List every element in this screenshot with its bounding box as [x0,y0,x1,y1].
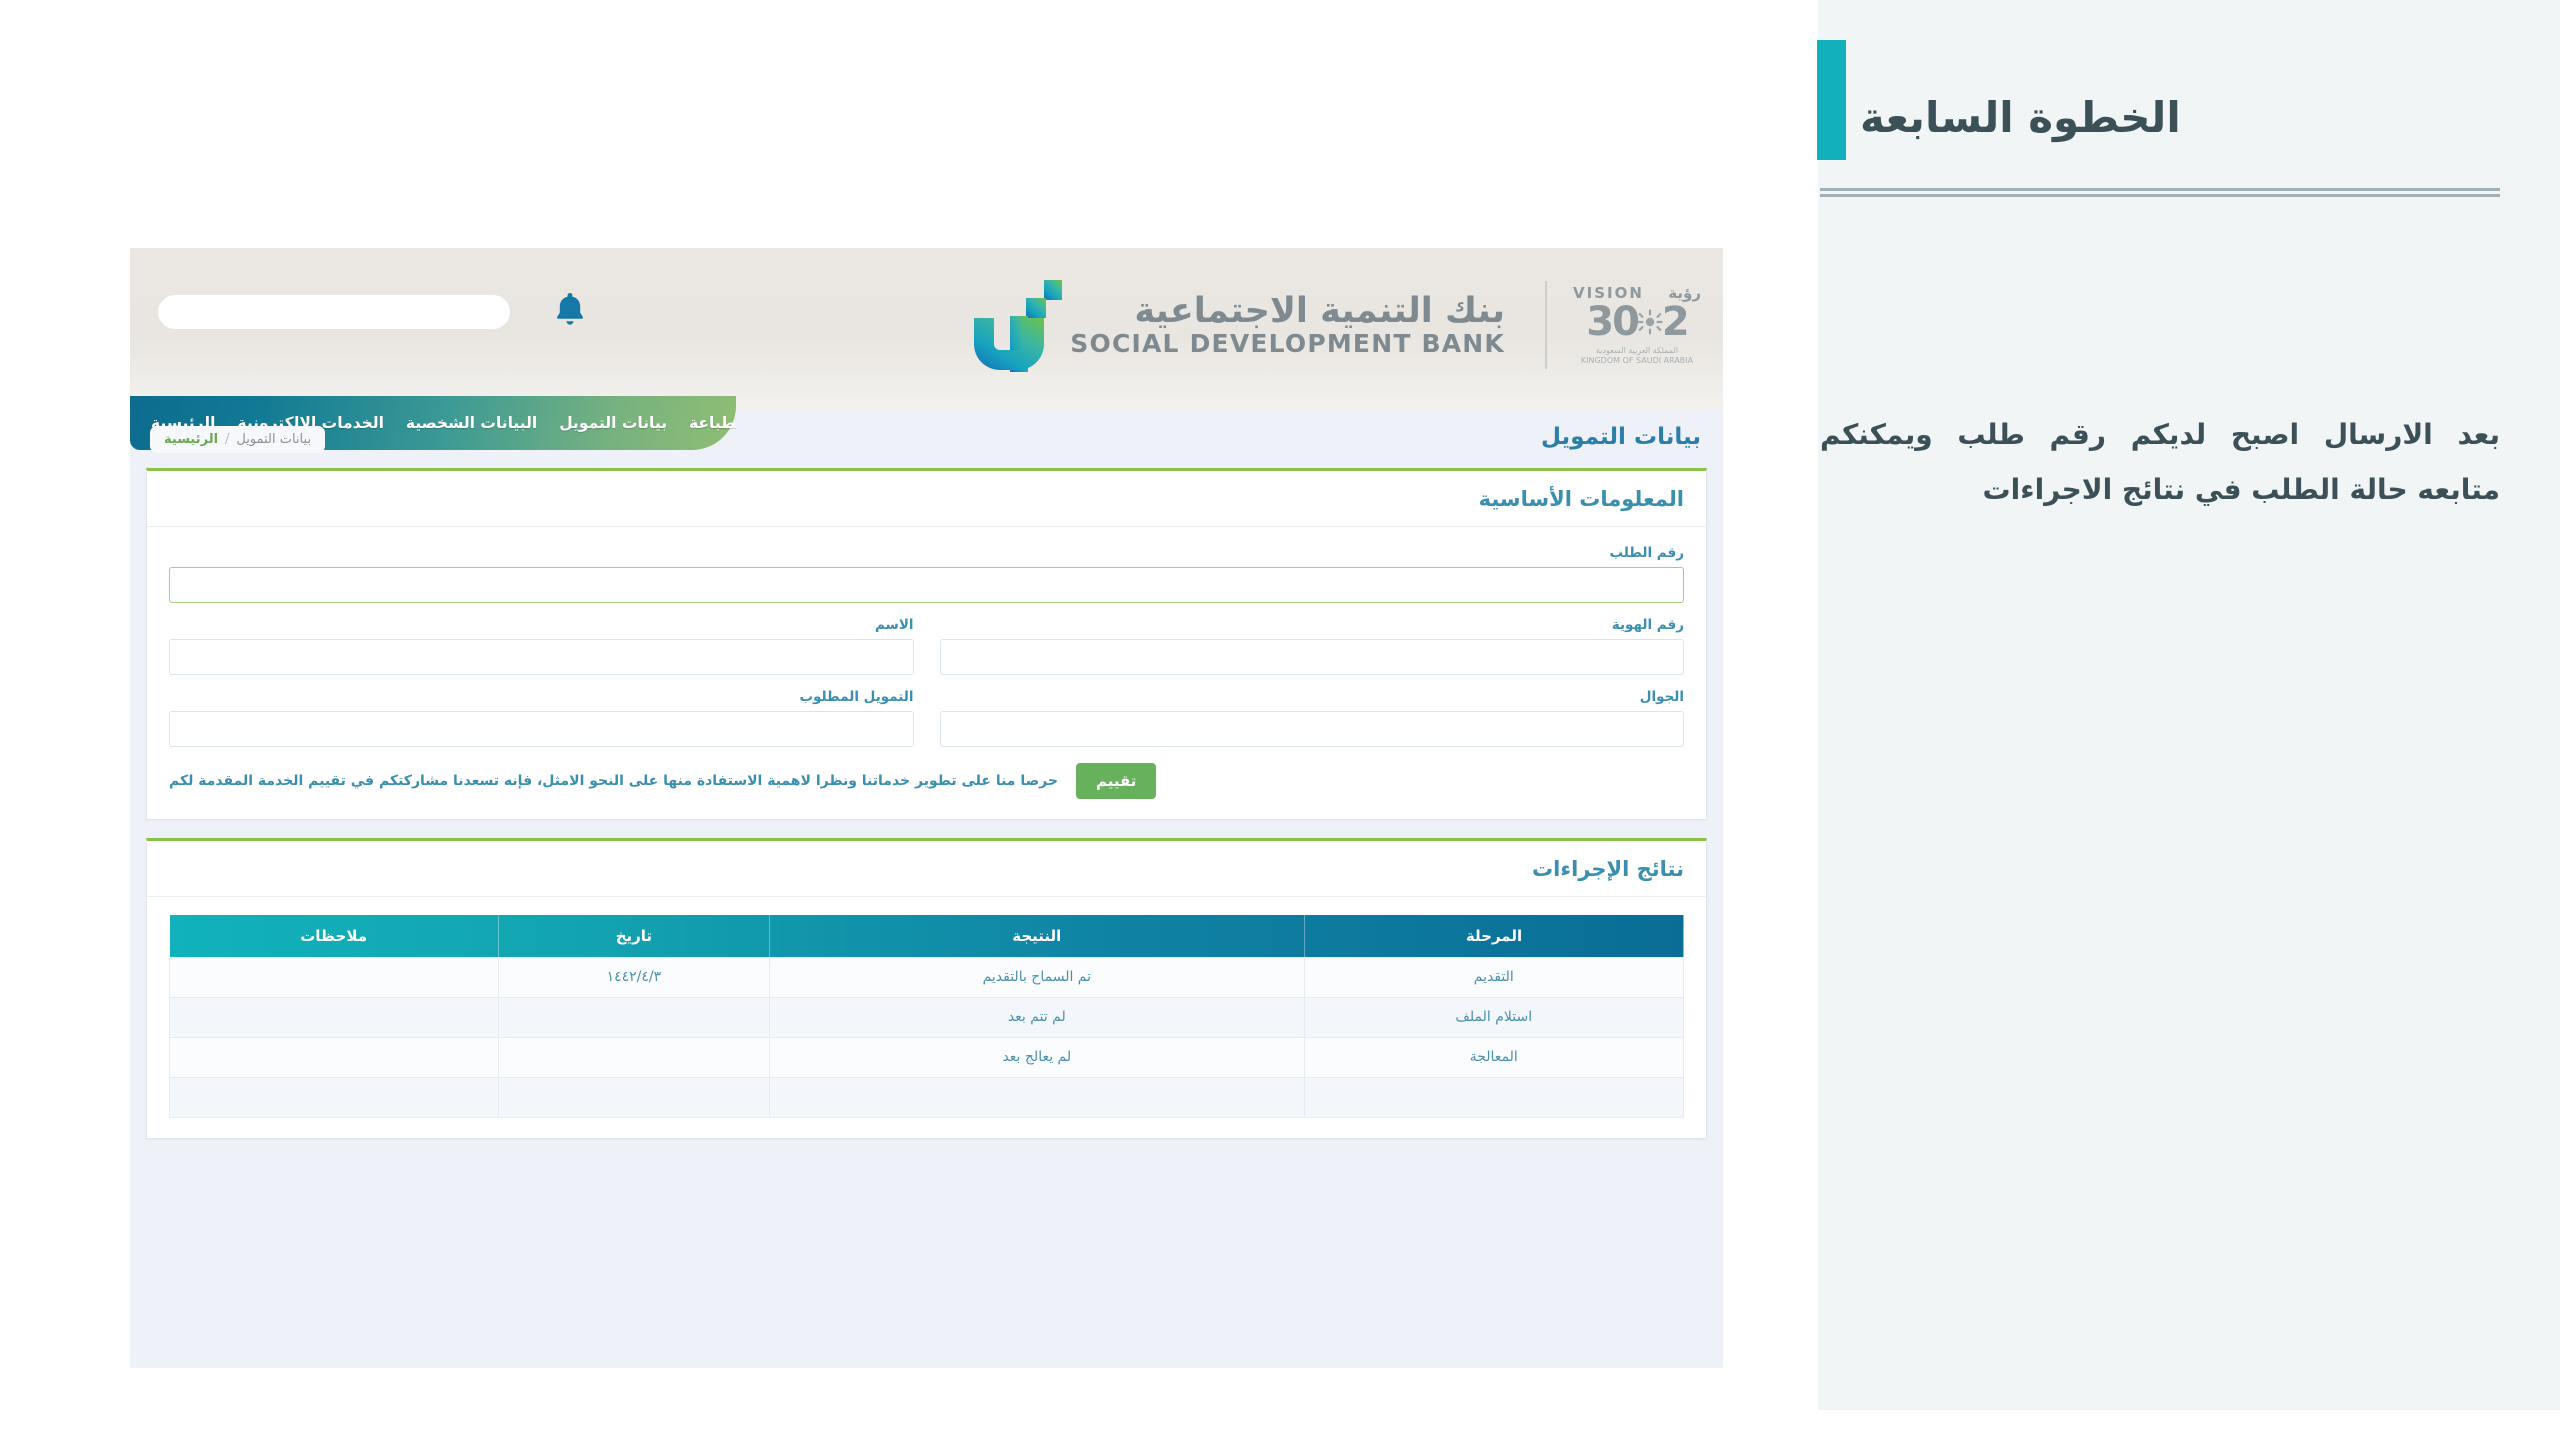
bell-icon[interactable] [550,288,590,332]
funding-requested-input[interactable] [169,711,914,747]
cell-result: لم يعالج بعد [770,1037,1305,1077]
basic-info-card: المعلومات الأساسية رقم الطلب رقم الهوية [146,468,1707,820]
cell-notes [170,957,499,997]
request-no-input[interactable] [169,567,1684,603]
col-date: تاريخ [498,915,769,957]
cell-result [770,1077,1305,1117]
user-name-field[interactable] [158,295,510,329]
app-header: VISION رؤية 2 [130,248,1723,410]
results-card: نتائج الإجراءات المرحلة النتيجة تاريخ مل… [146,838,1707,1139]
form-row-request-no: رقم الطلب [169,545,1684,603]
form-row-funding-mobile: الجوال التمويل المطلوب [169,689,1684,747]
cell-notes [170,997,499,1037]
bank-logo: VISION رؤية 2 [972,278,1701,372]
slide-canvas: الخطوة السابعة بعد الارسال اصبح لديكم رق… [0,0,2560,1440]
breadcrumb-separator: / [225,432,229,447]
accent-bar [1817,40,1846,160]
col-notes: ملاحظات [170,915,499,957]
label-id-no: رقم الهوية [940,617,1685,633]
basic-info-card-body: رقم الطلب رقم الهوية الاسم [147,527,1706,819]
cell-stage [1304,1077,1683,1117]
cell-result: لم تتم بعد [770,997,1305,1037]
results-card-header: نتائج الإجراءات [147,841,1706,897]
field-funding-requested: التمويل المطلوب [169,689,914,747]
label-mobile: الجوال [940,689,1685,705]
table-row [170,1077,1684,1117]
results-table-body: التقديم تم السماح بالتقديم ١٤٤٢/٤/٣ استل… [170,957,1684,1117]
field-mobile: الجوال [940,689,1685,747]
vision-2030-logo: VISION رؤية 2 [1573,284,1701,366]
breadcrumb-current: بيانات التمويل [236,432,311,447]
table-row: استلام الملف لم تتم بعد [170,997,1684,1037]
bank-name-en: SOCIAL DEVELOPMENT BANK [1070,330,1505,358]
results-table-head: المرحلة النتيجة تاريخ ملاحظات [170,915,1684,957]
sdb-logo-mark-icon [972,278,1064,372]
results-table: المرحلة النتيجة تاريخ ملاحظات التقديم تم… [169,915,1684,1118]
cell-date [498,997,769,1037]
col-stage: المرحلة [1304,915,1683,957]
evaluate-button[interactable]: تقييم [1076,763,1156,799]
table-row: التقديم تم السماح بالتقديم ١٤٤٢/٤/٣ [170,957,1684,997]
cell-date [498,1077,769,1117]
field-id-no: رقم الهوية [940,617,1685,675]
id-no-input[interactable] [940,639,1685,675]
results-card-body: المرحلة النتيجة تاريخ ملاحظات التقديم تم… [147,897,1706,1138]
slide-body-text: بعد الارسال اصبح لديكم رقم طلب ويمكنكم م… [1820,408,2500,517]
basic-info-heading: المعلومات الأساسية [1479,487,1684,511]
title-underline-rule [1820,188,2500,197]
cell-result: تم السماح بالتقديم [770,957,1305,997]
breadcrumb: بيانات التمويل / الرئيسية [150,426,325,453]
name-input[interactable] [169,639,914,675]
results-heading: نتائج الإجراءات [1532,857,1684,881]
results-header-row: المرحلة النتيجة تاريخ ملاحظات [170,915,1684,957]
label-request-no: رقم الطلب [169,545,1684,561]
label-name: الاسم [169,617,914,633]
table-row: المعالجة لم يعالج بعد [170,1037,1684,1077]
vision-sub-en: KINGDOM OF SAUDI ARABIA [1573,356,1701,366]
app-screenshot: VISION رؤية 2 [130,248,1723,1368]
cell-notes [170,1037,499,1077]
page-title: بيانات التمويل [1541,424,1701,450]
logo-divider [1545,281,1547,369]
label-funding-requested: التمويل المطلوب [169,689,914,705]
mobile-input[interactable] [940,711,1685,747]
cell-date [498,1037,769,1077]
slide-side-panel: الخطوة السابعة بعد الارسال اصبح لديكم رق… [1818,0,2560,1410]
cell-date: ١٤٤٢/٤/٣ [498,957,769,997]
vision-sub-ar: المملكة العربية السعودية [1573,346,1701,356]
evaluation-row: حرصا منا على تطوير خدماتنا ونظرا لاهمية … [169,763,1684,799]
field-request-no: رقم الطلب [169,545,1684,603]
bank-name-ar: بنك التنمية الاجتماعية [1070,293,1505,330]
cell-notes [170,1077,499,1117]
slide-title: الخطوة السابعة [1860,95,2500,141]
cell-stage: استلام الملف [1304,997,1683,1037]
cell-stage: التقديم [1304,957,1683,997]
page-header-row: بيانات التمويل بيانات التمويل / الرئيسية [130,410,1723,468]
col-result: النتيجة [770,915,1305,957]
basic-info-card-header: المعلومات الأساسية [147,471,1706,527]
evaluation-text: حرصا منا على تطوير خدماتنا ونظرا لاهمية … [169,773,1058,789]
cell-stage: المعالجة [1304,1037,1683,1077]
breadcrumb-home[interactable]: الرئيسية [164,432,218,447]
form-row-name-id: رقم الهوية الاسم [169,617,1684,675]
field-name: الاسم [169,617,914,675]
